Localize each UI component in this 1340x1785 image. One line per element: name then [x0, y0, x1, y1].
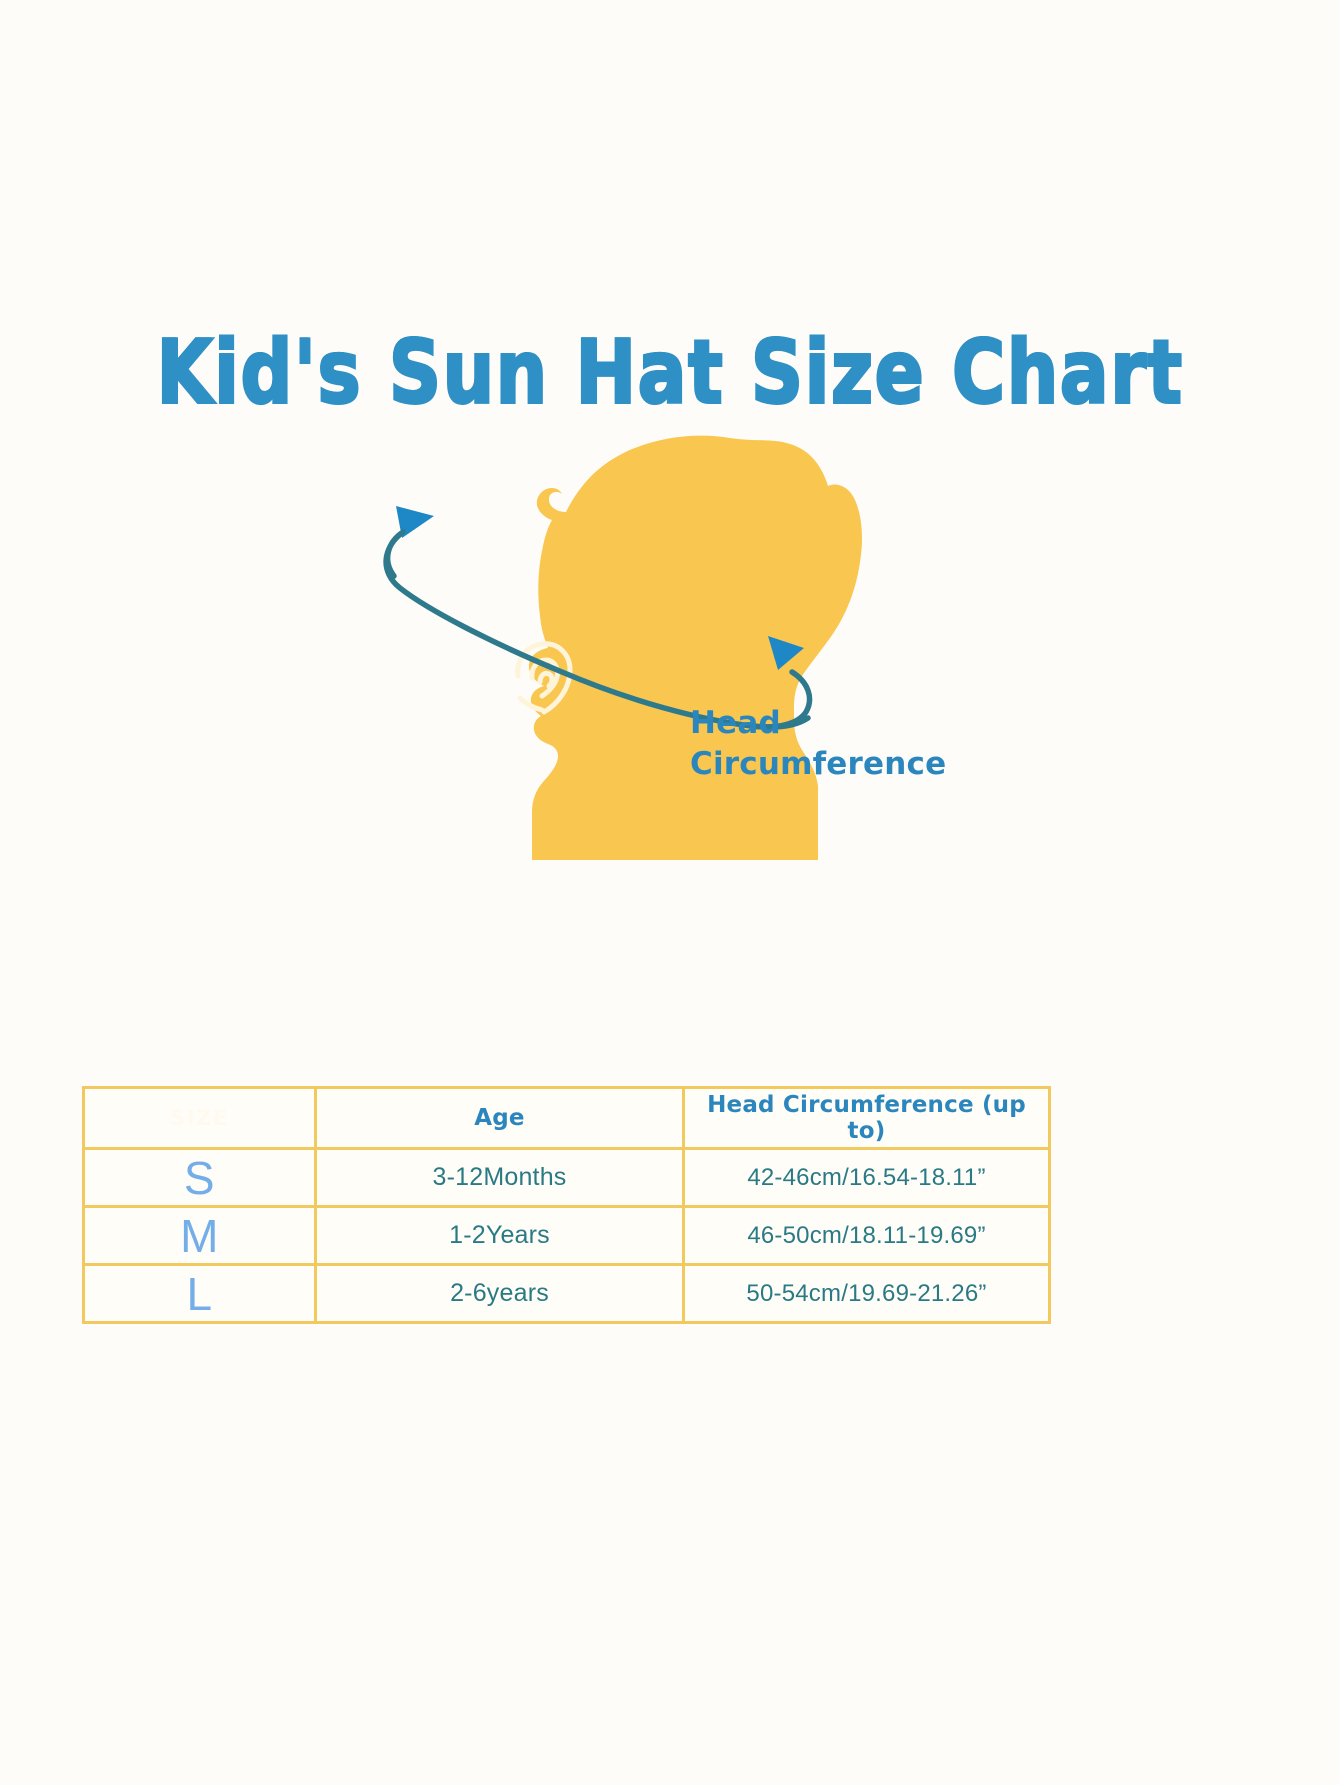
table-row: M 1-2Years 46-50cm/18.11-19.69” [84, 1207, 1050, 1265]
cell-size: L [84, 1265, 316, 1323]
cell-head-circumference: 42-46cm/16.54-18.11” [684, 1149, 1050, 1207]
head-measurement-illustration [300, 420, 1040, 880]
page-title: Kid's Sun Hat Size Chart [156, 328, 1183, 420]
cell-age: 1-2Years [316, 1207, 684, 1265]
table-header-row: SIZE Age Head Circumference (up to) [84, 1088, 1050, 1149]
caption-line-2: Circumference [690, 744, 1020, 785]
cell-age: 2-6years [316, 1265, 684, 1323]
cell-head-circumference: 50-54cm/19.69-21.26” [684, 1265, 1050, 1323]
head-circumference-caption: Head Circumference [690, 703, 1020, 785]
cell-head-circumference: 46-50cm/18.11-19.69” [684, 1207, 1050, 1265]
child-head-silhouette [529, 436, 862, 860]
column-header-size: SIZE [84, 1088, 316, 1149]
caption-line-1: Head [690, 703, 1020, 744]
size-chart-table: SIZE Age Head Circumference (up to) S 3-… [82, 1086, 1051, 1324]
table-row: L 2-6years 50-54cm/19.69-21.26” [84, 1265, 1050, 1323]
table-row: S 3-12Months 42-46cm/16.54-18.11” [84, 1149, 1050, 1207]
tape-arrow-left-icon [388, 506, 434, 576]
cell-age: 3-12Months [316, 1149, 684, 1207]
column-header-head-circumference: Head Circumference (up to) [684, 1088, 1050, 1149]
column-header-age: Age [316, 1088, 684, 1149]
cell-size: S [84, 1149, 316, 1207]
cell-size: M [84, 1207, 316, 1265]
